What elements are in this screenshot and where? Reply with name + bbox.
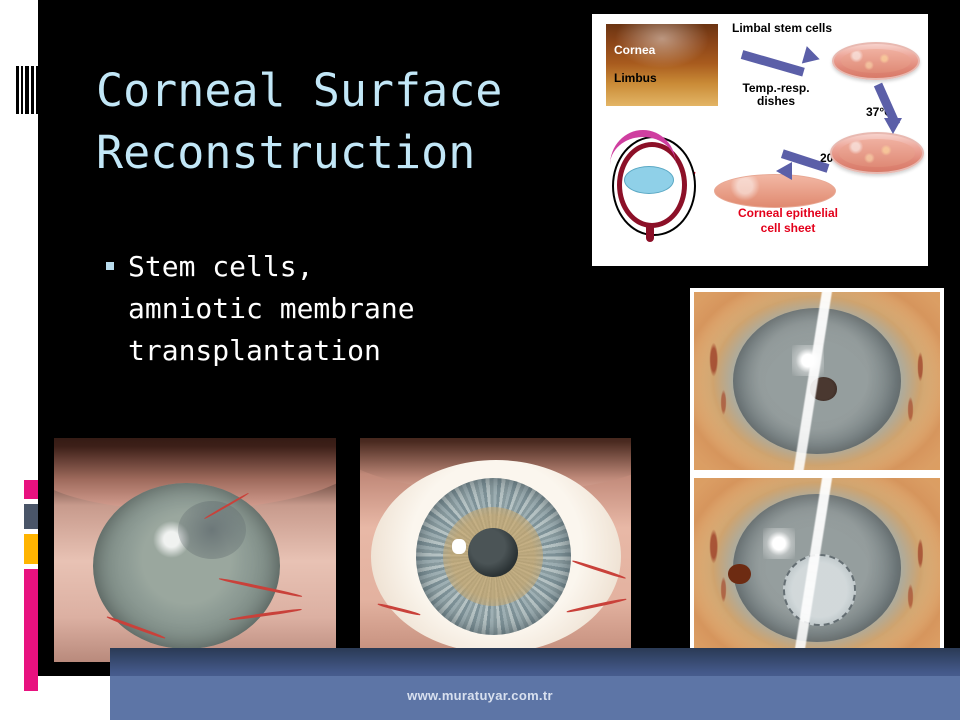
cornea-limbus-photo xyxy=(606,24,718,106)
diagram-label-limbus: Limbus xyxy=(614,72,657,85)
diagram-label-cornea: Cornea xyxy=(614,44,655,57)
bullet-text: Stem cells, amniotic membrane transplant… xyxy=(128,246,415,372)
cell-sheet-shape xyxy=(714,174,836,208)
footer-url: www.muratuyar.com.tr xyxy=(0,688,960,703)
page-title: Corneal Surface Reconstruction xyxy=(96,60,596,184)
diagram-label-temp-resp-dishes: Temp.-resp. dishes xyxy=(728,82,824,108)
petri-dish-upper xyxy=(832,42,920,80)
arrow-to-dish-head-icon xyxy=(802,46,822,68)
rail-chip-amber xyxy=(24,534,38,564)
arrow-to-dish-icon xyxy=(741,50,805,76)
barcode-decoration xyxy=(16,66,40,114)
petri-dish-lower xyxy=(830,132,924,174)
bullet-list-item: Stem cells, amniotic membrane transplant… xyxy=(106,246,536,372)
eye-cross-section-icon xyxy=(602,122,698,246)
limbal-stem-cell-culture-diagram: Cornea Limbus Limbal stem cells Temp.-re… xyxy=(592,14,928,266)
eye-photo-clear-cornea xyxy=(360,438,638,662)
photo-side-strip xyxy=(631,438,638,662)
diagram-label-cell-sheet: Corneal epithelial cell sheet xyxy=(708,206,868,236)
bullet-marker-icon xyxy=(106,262,114,270)
slit-lamp-photo-preop xyxy=(690,288,944,474)
slit-lamp-photo-postop xyxy=(690,474,944,662)
slide: Corneal Surface Reconstruction Stem cell… xyxy=(0,0,960,720)
arrow-37c-head-icon xyxy=(884,118,902,134)
rail-chip-slate xyxy=(24,504,38,529)
arrow-20c-head-icon xyxy=(776,162,792,180)
eye-photo-opaque-cornea xyxy=(54,438,336,662)
diagram-label-limbal-stem-cells: Limbal stem cells xyxy=(732,22,832,35)
rail-chip-pink xyxy=(24,480,38,499)
rail-chip-pink-long xyxy=(24,569,38,691)
